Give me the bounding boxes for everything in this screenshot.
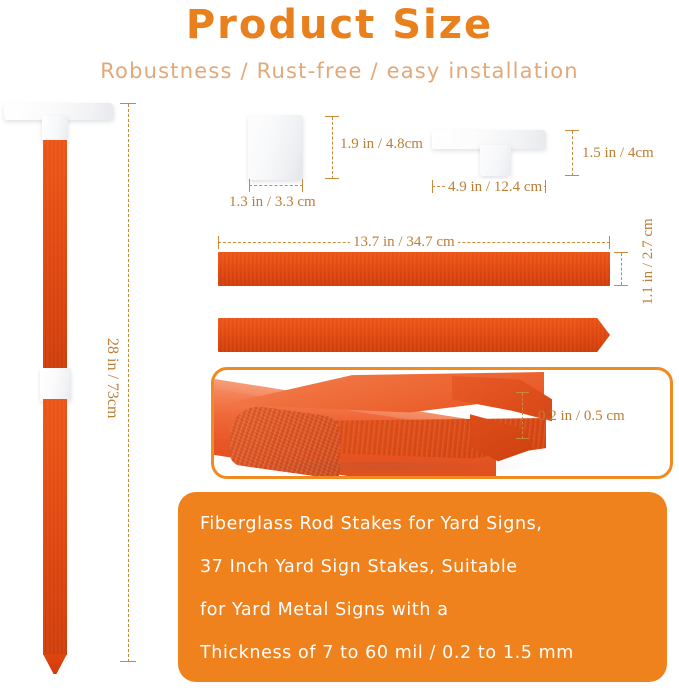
- description-line-3: for Yard Metal Signs with a: [200, 600, 449, 620]
- fiberglass-rod-pointed-end: [218, 318, 580, 352]
- total-length-cap-bottom: [120, 661, 136, 662]
- tee-height-label: 1.5 in / 4cm: [582, 145, 654, 161]
- product-size-infographic: Product Size Robustness / Rust-free / ea…: [0, 0, 679, 694]
- fiberglass-rod-flat-end: [218, 252, 610, 286]
- fiberglass-rod-point-tip: [578, 318, 610, 352]
- total-length-label: 28 in / 73cm: [104, 338, 120, 418]
- bar-height-label: 1.1 in / 2.7 cm: [640, 218, 656, 305]
- thickness-cap-bottom: [516, 438, 529, 439]
- tee-bracket-stem: [480, 145, 511, 176]
- thickness-dimension-line: [522, 393, 523, 439]
- bar-length-label: 13.7 in / 34.7 cm: [350, 234, 458, 250]
- description-line-2: 37 Inch Yard Sign Stakes, Suitable: [200, 557, 518, 577]
- tee-width-label: 4.9 in / 12.4 cm: [446, 179, 544, 195]
- stake-t-top-stem: [42, 116, 68, 142]
- closeup-rod-shadow: [234, 462, 534, 476]
- description-line-4: Thickness of 7 to 60 mil / 0.2 to 1.5 mm: [200, 643, 574, 663]
- cap-height-dimension-line: [332, 117, 333, 179]
- description-line-1: Fiberglass Rod Stakes for Yard Signs,: [200, 514, 543, 534]
- stake-white-collar: [40, 368, 71, 401]
- cap-width-label: 1.3 in / 3.3 cm: [229, 194, 316, 210]
- stake-rod-upper-segment: [43, 140, 67, 370]
- cap-width-cap-right: [302, 179, 303, 192]
- tee-height-cap-bottom: [565, 175, 579, 176]
- stake-pointed-tip: [43, 654, 67, 674]
- stake-rod-lower-segment: [43, 399, 67, 655]
- cap-height-cap-bottom: [325, 178, 339, 179]
- bar-height-dimension-line: [621, 253, 622, 285]
- page-subtitle: Robustness / Rust-free / easy installati…: [0, 58, 679, 84]
- cap-height-label: 1.9 in / 4.8cm: [340, 136, 423, 152]
- tee-width-cap-right: [545, 180, 546, 193]
- bar-length-cap-right: [609, 236, 610, 249]
- cap-width-dimension-line: [249, 185, 303, 186]
- tee-height-dimension-line: [572, 131, 573, 176]
- page-title: Product Size: [0, 2, 679, 48]
- product-description-box: Fiberglass Rod Stakes for Yard Signs, 37…: [178, 492, 667, 682]
- white-rectangular-cap: [248, 115, 303, 180]
- thickness-label: 0.2 in / 0.5 cm: [538, 408, 625, 424]
- bar-height-cap-bottom: [614, 285, 628, 286]
- total-length-dimension-line: [128, 104, 129, 662]
